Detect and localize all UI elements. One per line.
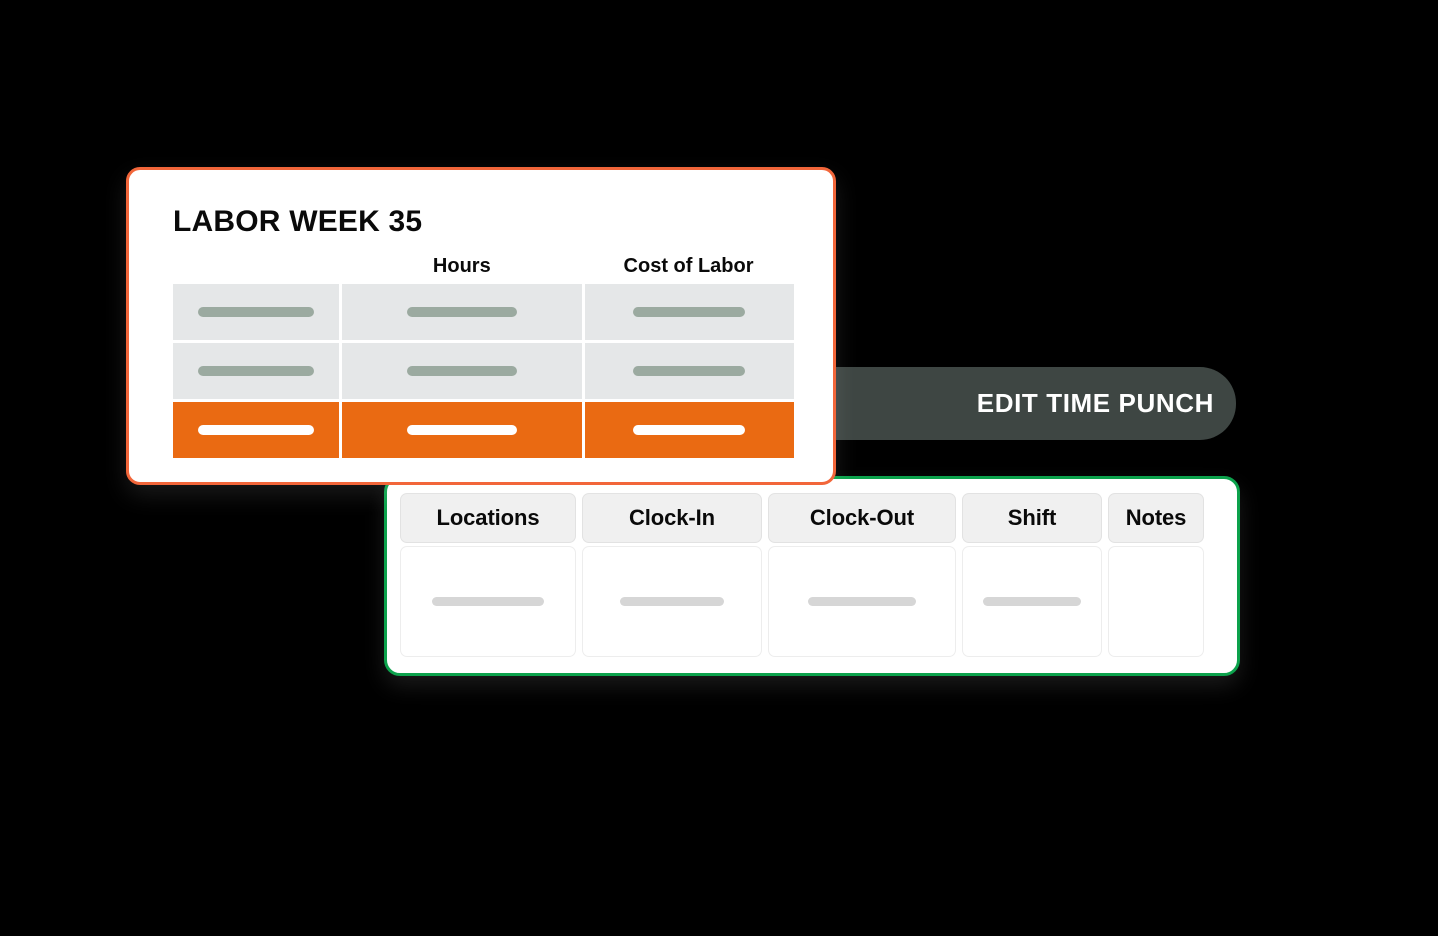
punch-column-header-shift: Shift: [962, 493, 1102, 543]
placeholder-bar: [407, 366, 517, 376]
punch-column-header-label: Clock-Out: [810, 505, 914, 531]
labor-table: [173, 284, 794, 458]
punch-column-notes[interactable]: Notes: [1108, 493, 1204, 657]
table-cell-hours: [342, 284, 582, 340]
punch-column-header-notes: Notes: [1108, 493, 1204, 543]
punch-column-body-clock-out[interactable]: [768, 546, 956, 657]
punch-column-body-notes[interactable]: [1108, 546, 1204, 657]
edit-time-punch-label: EDIT TIME PUNCH: [977, 388, 1214, 419]
labor-column-header-cost-of-labor: Cost of Labor: [583, 255, 794, 278]
labor-column-header-hours: Hours: [341, 255, 583, 278]
labor-week-title: LABOR WEEK 35: [173, 207, 794, 237]
labor-week-card: LABOR WEEK 35 Hours Cost of Labor: [126, 167, 836, 485]
placeholder-bar: [633, 425, 745, 435]
table-cell-name: [173, 284, 339, 340]
placeholder-bar: [620, 597, 724, 606]
table-cell-cost: [585, 343, 794, 399]
punch-column-header-clock-in: Clock-In: [582, 493, 762, 543]
placeholder-bar: [983, 597, 1081, 606]
punch-column-header-locations: Locations: [400, 493, 576, 543]
table-cell-hours: [342, 402, 582, 458]
table-cell-cost: [585, 402, 794, 458]
placeholder-bar: [808, 597, 916, 606]
placeholder-bar: [407, 425, 517, 435]
placeholder-bar: [633, 366, 745, 376]
placeholder-bar: [633, 307, 745, 317]
canvas-background: EDIT TIME PUNCH Locations Clock-In Clock…: [0, 0, 1438, 936]
table-row-total[interactable]: [173, 402, 794, 458]
punch-column-body-locations[interactable]: [400, 546, 576, 657]
edit-time-punch-button[interactable]: EDIT TIME PUNCH: [820, 367, 1236, 440]
punch-column-body-clock-in[interactable]: [582, 546, 762, 657]
labor-table-column-headers: Hours Cost of Labor: [173, 255, 794, 278]
table-cell-hours: [342, 343, 582, 399]
punch-column-body-shift[interactable]: [962, 546, 1102, 657]
placeholder-bar: [432, 597, 544, 606]
punch-column-header-label: Clock-In: [629, 505, 715, 531]
labor-column-header-spacer: [173, 255, 341, 278]
placeholder-bar: [198, 366, 314, 376]
punch-column-header-label: Locations: [437, 505, 540, 531]
placeholder-bar: [198, 425, 314, 435]
punch-column-shift[interactable]: Shift: [962, 493, 1102, 657]
punch-column-header-label: Notes: [1126, 505, 1187, 531]
punch-column-clock-out[interactable]: Clock-Out: [768, 493, 956, 657]
punch-column-locations[interactable]: Locations: [400, 493, 576, 657]
table-cell-name: [173, 402, 339, 458]
table-row[interactable]: [173, 343, 794, 399]
punch-column-header-label: Shift: [1008, 505, 1056, 531]
table-row[interactable]: [173, 284, 794, 340]
table-cell-name: [173, 343, 339, 399]
placeholder-bar: [198, 307, 314, 317]
punch-column-header-clock-out: Clock-Out: [768, 493, 956, 543]
placeholder-bar: [407, 307, 517, 317]
time-punch-card: Locations Clock-In Clock-Out Shi: [384, 476, 1240, 676]
table-cell-cost: [585, 284, 794, 340]
punch-column-clock-in[interactable]: Clock-In: [582, 493, 762, 657]
